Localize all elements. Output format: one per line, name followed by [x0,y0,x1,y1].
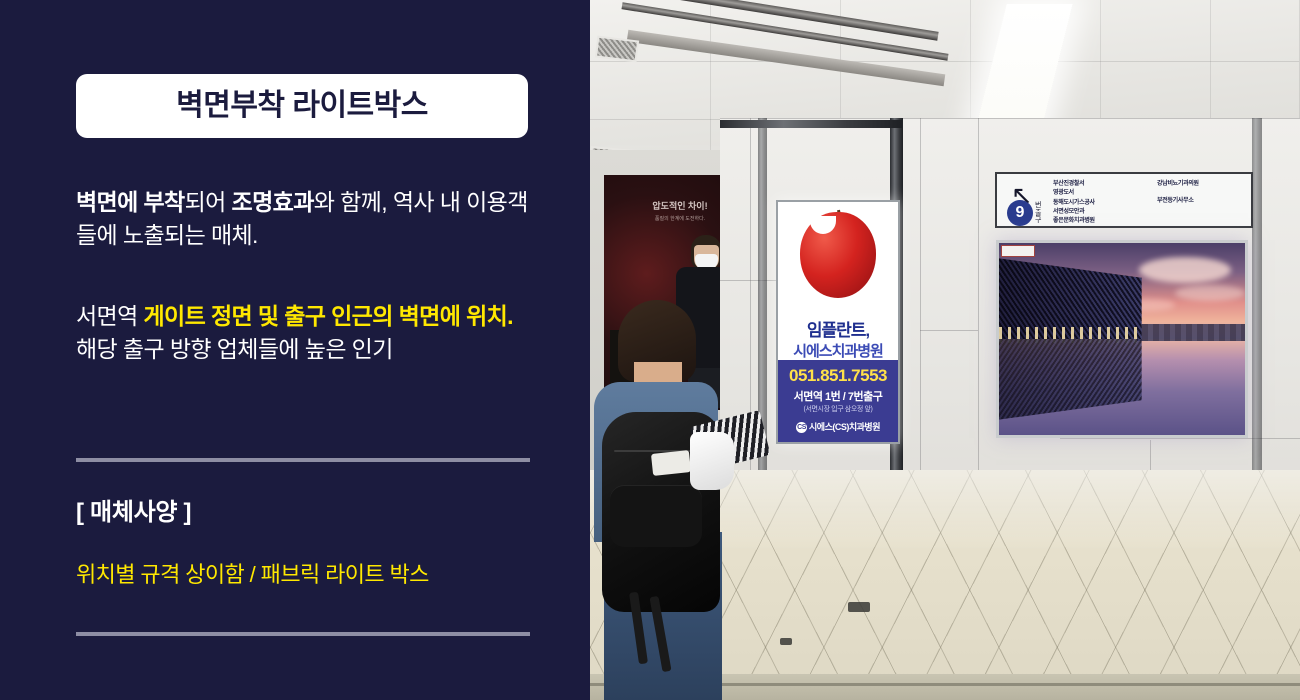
station-photo: 압도적인 차이! 품질의 한계에 도전하다. [590,0,1300,700]
exit-sign-column-1: 부산진경찰서 영광도서 동해도시가스공사 서면성모안과 좋은문화치과병원 [1053,180,1095,226]
exit-sign-entry: 서면성모안과 [1053,208,1095,217]
white-plastic-bag [690,432,734,490]
promo-slide: 벽면부착 라이트박스 벽면에 부착되어 조명효과와 함께, 역사 내 이용객들에… [0,0,1300,700]
divider-top [76,458,530,462]
exit-number-badge: 9 [1007,200,1033,226]
media-title-box: 벽면부착 라이트박스 [76,74,528,138]
dental-ad-logo-text: 시에스(CS)치과병원 [809,422,880,432]
poster-headline: 압도적인 차이! [652,199,707,212]
landscape-ad-lightbox [996,240,1248,438]
dental-ad-exit: 서면역 1번 / 7번출구 [778,388,898,404]
exit-sign-entry: 영광도서 [1053,189,1095,198]
paragraph2-tail: 해당 출구 방향 업체들에 높은 인기 [76,336,393,362]
wall-seam [720,118,1300,119]
foreground-person [590,300,740,700]
spec-label: [ 매체사양 ] [76,492,191,527]
paragraph2-lead: 서면역 [76,303,143,329]
ad-corner-tag [1001,245,1035,257]
dental-ad-clinic: 시에스치과병원 [784,340,892,361]
backpack-white-item [651,450,691,476]
apple-image [778,202,898,314]
dental-ad-lightbox: 임플란트, 시에스치과병원 051.851.7553 서면역 1번 / 7번출구… [776,200,900,444]
dental-ad-note: (서면시장 입구 삼오정 앞) [778,404,898,414]
exit-sign-entry: 동해도시가스공사 [1053,199,1095,208]
paragraph1-bold-1: 벽면에 부착 [76,189,185,215]
exit-sign-column-2: 강남비뇨기과의원 부전등기사무소 [1157,180,1199,207]
wall-header-beam [720,120,902,128]
floor-debris [780,638,792,645]
paragraph2-highlight: 게이트 정면 및 출구 인근의 벽면에 위치. [143,303,513,329]
spec-value: 위치별 규격 상이함 / 패브릭 라이트 박스 [76,557,429,589]
exit-sign-entry: 부전등기사무소 [1157,197,1199,206]
station-exit-sign: ↖ 9 번 출구 부산진경찰서 영광도서 동해도시가스공사 서면성모안과 좋은문… [995,172,1253,228]
backpack-pocket [610,485,702,547]
wall-seam [920,330,978,331]
exit-sign-entry: 부산진경찰서 [1053,180,1095,189]
wall-seam [1060,438,1300,439]
paragraph1-bold-2: 조명효과 [232,189,314,215]
wall-seam [720,280,780,281]
paragraph1-plain-1: 되어 [185,189,232,215]
floor-debris [848,602,870,612]
dental-ad-logo: CS시에스(CS)치과병원 [778,420,898,433]
page-title: 벽면부착 라이트박스 [176,91,428,121]
dental-ad-phone: 051.851.7553 [778,366,898,386]
exit-sign-entry: 좋은문화치과병원 [1053,217,1095,226]
exit-sign-entry: 강남비뇨기과의원 [1157,180,1199,189]
description-paragraph-2: 서면역 게이트 정면 및 출구 인근의 벽면에 위치. 해당 출구 방향 업체들… [76,300,556,367]
clinic-logo-icon: CS [796,422,807,433]
ceiling-tile [590,62,1300,120]
info-panel: 벽면부착 라이트박스 벽면에 부착되어 조명효과와 함께, 역사 내 이용객들에… [0,0,590,700]
divider-bottom [76,632,530,636]
dental-ad-headline: 임플란트, [778,316,898,341]
description-paragraph-1: 벽면에 부착되어 조명효과와 함께, 역사 내 이용객들에 노출되는 매체. [76,186,546,251]
dental-ad-contact-band: 051.851.7553 서면역 1번 / 7번출구 (서면시장 입구 삼오정 … [778,360,898,442]
exit-word-label: 번 출구 [1035,202,1045,225]
poster-subline: 품질의 한계에 도전하다. [655,215,705,222]
